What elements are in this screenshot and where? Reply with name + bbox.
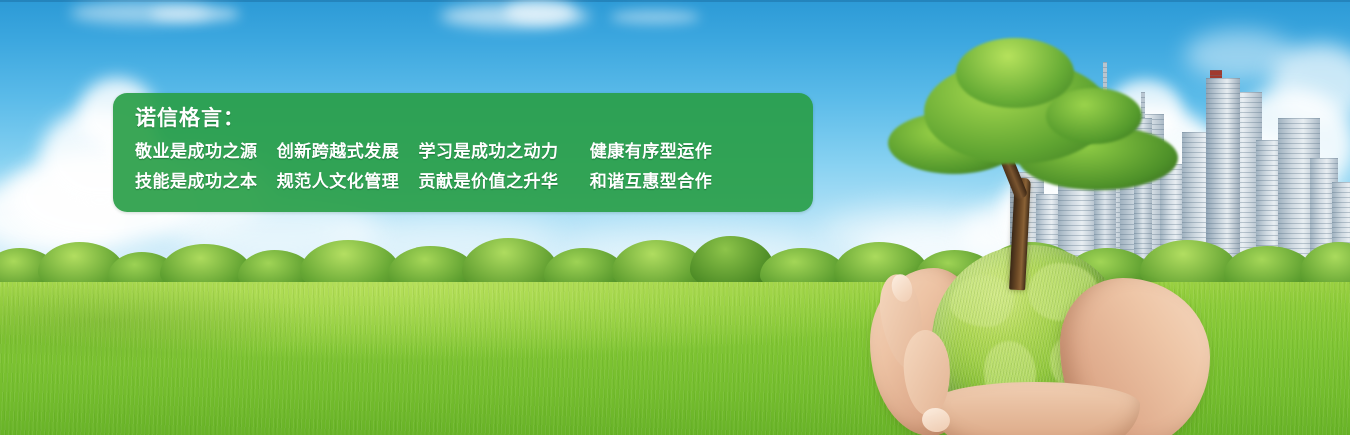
maxim-segment: 技能是成功之本 <box>135 172 258 191</box>
cloud-icon <box>505 0 575 24</box>
maxim-segment: 学习是成功之动力 <box>418 142 558 161</box>
cloud-icon <box>610 10 700 24</box>
maxim-segment: 贡献是价值之升华 <box>418 172 558 191</box>
maxim-box: 诺信格言： 敬业是成功之源 创新跨越式发展 学习是成功之动力 健康有序型运作 技… <box>113 93 813 212</box>
maxim-title: 诺信格言： <box>135 105 813 133</box>
maxim-segment: 规范人文化管理 <box>277 172 400 191</box>
maxim-segment: 健康有序型运作 <box>590 142 713 161</box>
tree-canopy <box>1046 88 1142 144</box>
continent-shape <box>950 275 1014 327</box>
maxim-segment: 敬业是成功之源 <box>135 142 258 161</box>
cupped-palm <box>930 382 1140 435</box>
sky-top-edge <box>0 0 1350 2</box>
maxim-segment: 创新跨越式发展 <box>277 142 400 161</box>
tree-canopy <box>956 38 1074 108</box>
grass-shadow <box>0 282 520 382</box>
grass-globe-in-hands <box>860 30 1220 435</box>
maxim-line-1: 敬业是成功之源 创新跨越式发展 学习是成功之动力 健康有序型运作 <box>135 137 813 167</box>
cloud-icon <box>150 6 240 22</box>
maxim-segment: 和谐互惠型合作 <box>590 172 713 191</box>
eco-green-banner: 诺信格言： 敬业是成功之源 创新跨越式发展 学习是成功之动力 健康有序型运作 技… <box>0 0 1350 435</box>
maxim-line-2: 技能是成功之本 规范人文化管理 贡献是价值之升华 和谐互惠型合作 <box>135 167 813 197</box>
